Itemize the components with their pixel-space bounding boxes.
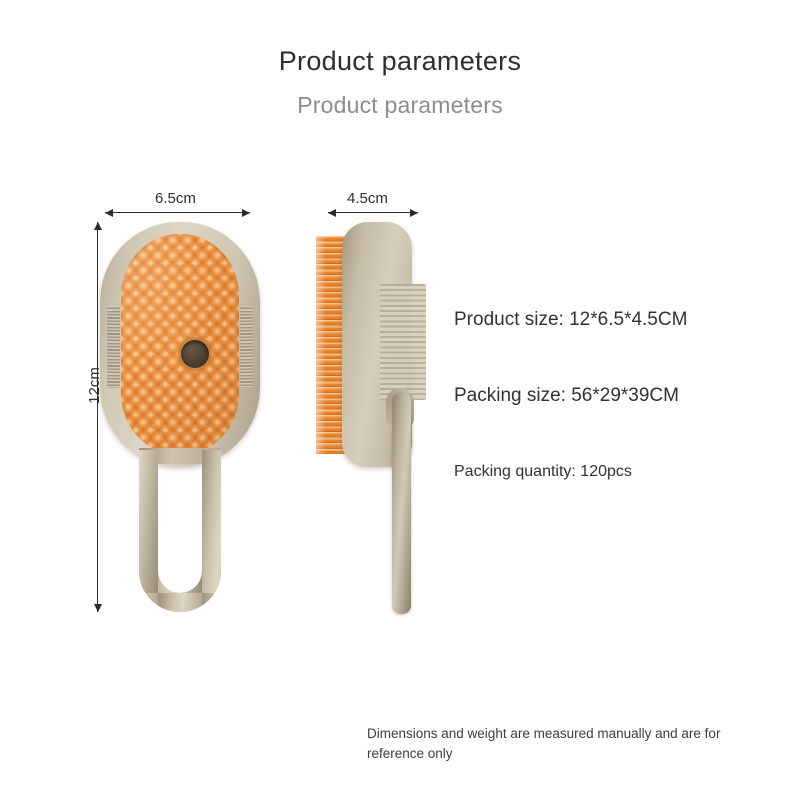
spec-packing-quantity: Packing quantity: 120pcs xyxy=(454,463,632,481)
front-body-shell xyxy=(100,222,260,467)
page-subtitle: Product parameters xyxy=(0,92,800,119)
dimension-arrow-width-front xyxy=(105,212,250,213)
dimension-arrow-height-front xyxy=(97,222,98,612)
side-grip-ribs-icon xyxy=(380,284,426,400)
page-title: Product parameters xyxy=(0,46,800,77)
grip-ribs-left-icon xyxy=(107,306,120,388)
product-side-view xyxy=(316,222,434,614)
infographic-canvas: Product parameters Product parameters 6.… xyxy=(0,0,800,800)
pad-shading-overlay xyxy=(121,234,239,455)
product-front-view xyxy=(100,222,260,612)
side-handle xyxy=(392,392,411,614)
dimension-label-height-front: 12cm xyxy=(86,367,103,404)
silicone-bristle-pad xyxy=(121,234,239,455)
dimension-label-width-side: 4.5cm xyxy=(347,190,388,207)
steam-outlet-hole xyxy=(181,340,209,368)
measurement-disclaimer: Dimensions and weight are measured manua… xyxy=(367,724,767,763)
spec-packing-size: Packing size: 56*29*39CM xyxy=(454,385,679,407)
dimension-label-width-front: 6.5cm xyxy=(155,190,196,207)
grip-ribs-right-icon xyxy=(240,306,253,388)
loop-handle xyxy=(139,450,221,612)
dimension-arrow-width-side xyxy=(328,212,418,213)
spec-product-size: Product size: 12*6.5*4.5CM xyxy=(454,309,687,331)
